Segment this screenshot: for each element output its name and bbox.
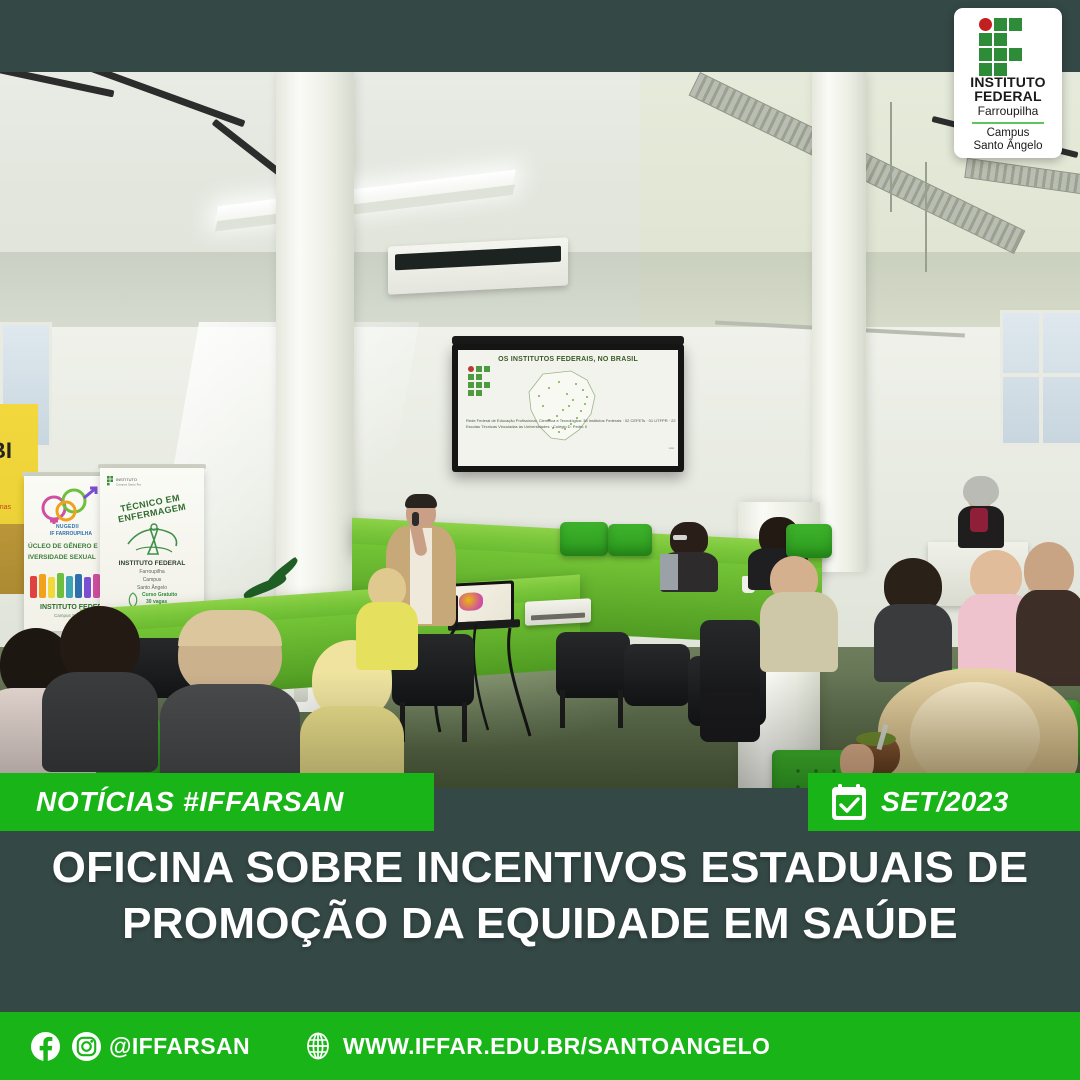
brazil-map: [513, 366, 618, 451]
slide-title: OS INSTITUTOS FEDERAIS, NO BRASIL: [458, 356, 678, 363]
if-logo-mark: [979, 18, 1037, 70]
window-mullion: [1003, 373, 1080, 377]
audience-member: [760, 550, 838, 660]
laptop-screen: [452, 580, 514, 625]
air-conditioner: [388, 237, 568, 294]
logo-line-campus: Campus: [987, 127, 1030, 140]
slide-surface: OS INSTITUTOS FEDERAIS, NO BRASIL: [458, 350, 678, 466]
audience-member: [874, 558, 952, 668]
date-tag: SET/2023: [808, 773, 1080, 831]
calendar-check-icon: [830, 782, 868, 822]
banner-enfermagem: INSTITUTO Campus Santo Ângelo TÉCNICO EM…: [100, 468, 204, 620]
logo-line-federal: FEDERAL: [974, 89, 1042, 104]
tray-hanger: [890, 102, 892, 212]
website-url[interactable]: WWW.IFFAR.EDU.BR/SANTOANGELO: [343, 1033, 770, 1060]
logo-line-farroupilha: Farroupilha: [978, 104, 1039, 119]
window-mullion: [1039, 313, 1043, 443]
slide-legend: ▪▪▪▪▪: [669, 446, 674, 450]
panelist-one: [660, 524, 718, 586]
slide-body-text: Rede Federal de Educação Profissional, C…: [466, 418, 678, 429]
logo-line-santo-angelo: Santo Ângelo: [973, 140, 1042, 153]
news-tag: NOTÍCIAS #IFFARSAN: [0, 773, 434, 831]
headline: OFICINA SOBRE INCENTIVOS ESTADUAIS DE PR…: [0, 840, 1080, 952]
tray-hanger: [925, 162, 927, 272]
logo-divider: [972, 122, 1044, 124]
structural-column: [812, 72, 866, 572]
headline-line-1: OFICINA SOBRE INCENTIVOS ESTADUAIS DE: [0, 840, 1080, 896]
person-at-lectern: [958, 480, 1004, 546]
social-group[interactable]: @IFFARSAN: [30, 1031, 250, 1062]
institutional-logo: INSTITUTO FEDERAL Farroupilha Campus San…: [954, 8, 1062, 158]
instagram-icon[interactable]: [71, 1031, 102, 1062]
svg-text:INSTITUTO: INSTITUTO: [116, 477, 137, 482]
poster-root: OS INSTITUTOS FEDERAIS, NO BRASIL: [0, 0, 1080, 1080]
globe-icon: [304, 1032, 332, 1060]
social-handle[interactable]: @IFFARSAN: [109, 1033, 250, 1060]
news-tag-label: NOTÍCIAS #IFFARSAN: [36, 786, 344, 818]
audience-member: [1016, 542, 1080, 672]
headline-line-2: PROMOÇÃO DA EQUIDADE EM SAÚDE: [0, 896, 1080, 952]
audience-member: [356, 568, 418, 664]
website-group[interactable]: WWW.IFFAR.EDU.BR/SANTOANGELO: [304, 1032, 770, 1060]
ac-vent: [395, 245, 561, 270]
photo-vignette: [0, 672, 1080, 788]
footer-bar: @IFFARSAN WWW.IFFAR.EDU.BR/SANTOANGELO: [0, 1012, 1080, 1080]
event-photo: OS INSTITUTOS FEDERAIS, NO BRASIL: [0, 72, 1080, 788]
nursing-emblem-icon: [124, 520, 182, 560]
projection-screen: OS INSTITUTOS FEDERAIS, NO BRASIL: [452, 344, 684, 472]
facebook-icon[interactable]: [30, 1031, 61, 1062]
chair-back: [608, 524, 652, 556]
logo-line-instituto: INSTITUTO: [970, 75, 1045, 89]
chair-back: [560, 522, 608, 556]
window: [1000, 310, 1080, 446]
slide-if-logo-small: INSTITUTO Campus Santo Ângelo: [107, 476, 141, 487]
svg-text:Campus Santo Ângelo: Campus Santo Ângelo: [116, 482, 141, 487]
date-tag-label: SET/2023: [881, 786, 1009, 818]
slide-if-logo: [468, 366, 494, 392]
